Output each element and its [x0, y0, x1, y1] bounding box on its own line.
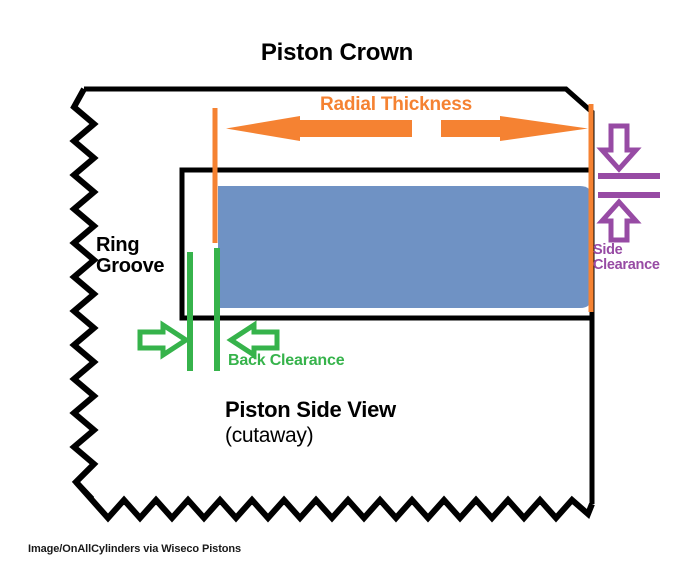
label-side-clearance-line1: Side — [593, 242, 622, 258]
label-side-clearance-line2: Clearance — [593, 257, 660, 273]
image-credit: Image/OnAllCylinders via Wiseco Pistons — [28, 544, 241, 556]
back-clearance-arrow-right — [140, 325, 186, 355]
label-ring-groove-line2: Groove — [96, 255, 164, 277]
label-ring-groove-line1: Ring — [96, 234, 139, 256]
side-clearance-arrow-down — [602, 126, 636, 169]
label-radial-thickness: Radial Thickness — [320, 95, 472, 115]
diagram-canvas: Piston Crown Radial Thickness RingGroove… — [0, 0, 674, 569]
piston-torn-left-edge — [74, 89, 94, 499]
side-clearance-arrow-up — [602, 202, 636, 240]
page-title-piston-crown: Piston Crown — [0, 40, 674, 65]
label-ring-groove: RingGroove — [96, 235, 164, 277]
label-back-clearance: Back Clearance — [228, 353, 344, 370]
label-side-clearance: SideClearance — [593, 243, 660, 274]
piston-ring-blue-body — [218, 186, 592, 308]
subtitle-cutaway: (cutaway) — [225, 425, 313, 447]
piston-diagram-graphic — [0, 0, 674, 569]
title-piston-side-view: Piston Side View — [225, 398, 396, 421]
back-clearance-arrow-left — [231, 325, 277, 355]
piston-torn-bottom-edge — [76, 482, 592, 518]
radial-thickness-arrow-right — [441, 116, 588, 141]
radial-thickness-arrow-left — [226, 116, 412, 141]
